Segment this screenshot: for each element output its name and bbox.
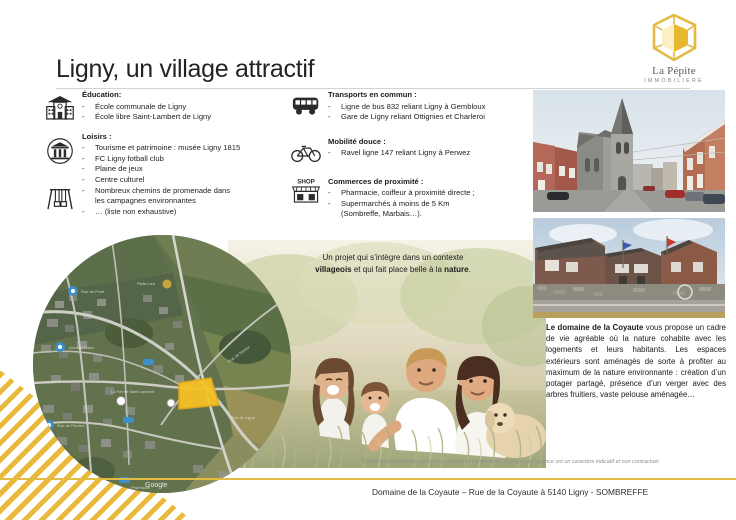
info-list: - École communale de Ligny - École libre… bbox=[82, 102, 288, 123]
list-item: - Gare de Ligny reliant Ottignies et Cha… bbox=[328, 112, 534, 123]
list-item-label: FC Ligny fotball club bbox=[95, 154, 164, 165]
bullet-dash: - bbox=[82, 102, 95, 113]
list-item: - Ravel ligne 147 reliant Ligny à Perwez bbox=[328, 148, 534, 159]
list-item-label: Supermarchés à moins de 5 Km bbox=[341, 199, 449, 210]
info-heading: Mobilité douce : bbox=[328, 137, 534, 146]
bullet-dash: - bbox=[82, 112, 95, 123]
satellite-map-with-highlighted-parcel[interactable]: Rue du Point Arnould Place La Ferme Sain… bbox=[33, 235, 291, 493]
info-list: - Tourisme et patrimoine : musée Ligny 1… bbox=[82, 143, 288, 185]
tagline-line2-mid: et qui fait place belle à la bbox=[352, 265, 445, 274]
info-block-mobilite: Mobilité douce : - Ravel ligne 147 relia… bbox=[284, 137, 534, 163]
svg-text:Rue du Point: Rue du Point bbox=[81, 289, 105, 294]
svg-text:La Ferme Saint-Lambert: La Ferme Saint-Lambert bbox=[111, 389, 155, 394]
tagline-line1: Un projet qui s’intègre dans un contexte bbox=[323, 253, 464, 262]
page-title: Ligny, un village attractif bbox=[56, 55, 314, 84]
list-item: - … (liste non exhaustive) bbox=[82, 207, 288, 218]
list-item: - Centre culturel bbox=[82, 175, 288, 186]
list-item-label: Plaine de jeux bbox=[95, 164, 143, 175]
list-item-label: … (liste non exhaustive) bbox=[95, 207, 176, 218]
list-item-continuation: les campagnes environnantes bbox=[82, 196, 288, 207]
list-item: - Plaine de jeux bbox=[82, 164, 288, 175]
list-item: - Tourisme et patrimoine : musée Ligny 1… bbox=[82, 143, 288, 154]
info-column-right: Transports en commun : - Ligne de bus 83… bbox=[284, 90, 534, 229]
nugget-logo-icon bbox=[648, 12, 700, 64]
description-body: vous propose un cadre de vie agréable où… bbox=[546, 323, 726, 399]
bullet-dash: - bbox=[82, 186, 95, 197]
bullet-dash: - bbox=[328, 102, 341, 113]
info-list: - Pharmacie, coiffeur à proximité direct… bbox=[328, 188, 534, 220]
village-church-street-photo bbox=[533, 90, 725, 212]
bicycle-icon bbox=[284, 137, 328, 163]
info-heading: Transports en commun : bbox=[328, 90, 534, 99]
bullet-dash: - bbox=[328, 148, 341, 159]
info-list: - Ligne de bus 832 reliant Ligny à Gembl… bbox=[328, 102, 534, 123]
list-item-label: École libre Saint-Lambert de Ligny bbox=[95, 112, 211, 123]
footer-address: Domaine de la Coyaute – Rue de la Coyaut… bbox=[300, 487, 720, 497]
shop-icon: SHOP bbox=[284, 177, 328, 204]
school-building-icon bbox=[38, 90, 82, 120]
swing-set-icon bbox=[38, 186, 82, 210]
svg-text:Plate-Lieu: Plate-Lieu bbox=[137, 281, 155, 286]
list-item-label: Gare de Ligny reliant Ottignies et Charl… bbox=[341, 112, 485, 123]
info-column-left: Éducation: - École communale de Ligny - … bbox=[38, 90, 288, 226]
footer-divider bbox=[0, 478, 736, 480]
svg-text:SHOP: SHOP bbox=[297, 178, 315, 185]
info-list: - Ravel ligne 147 reliant Ligny à Perwez bbox=[328, 148, 534, 159]
brand-logo[interactable]: La Pépite IMMOBILIERE bbox=[626, 12, 722, 84]
info-block-commerces: SHOP Commerces de proximité : - bbox=[284, 177, 534, 220]
list-item-label: Centre culturel bbox=[95, 175, 144, 186]
legal-disclaimer: Toutes les informations, mesures, surfac… bbox=[296, 459, 726, 465]
list-item-label: Ligne de bus 832 reliant Ligny à Gemblou… bbox=[341, 102, 485, 113]
list-item-label: Tourisme et patrimoine : musée Ligny 181… bbox=[95, 143, 240, 154]
brand-tagline: IMMOBILIERE bbox=[626, 78, 722, 84]
museum-icon bbox=[38, 132, 82, 165]
tagline-line2-end: . bbox=[469, 265, 471, 274]
list-item-label: Nombreux chemins de promenade dans bbox=[95, 186, 230, 197]
bus-icon bbox=[284, 90, 328, 116]
brand-name: La Pépite bbox=[626, 65, 722, 77]
info-heading: Commerces de proximité : bbox=[328, 177, 534, 186]
list-item: - Pharmacie, coiffeur à proximité direct… bbox=[328, 188, 534, 199]
info-block-transports: Transports en commun : - Ligne de bus 83… bbox=[284, 90, 534, 123]
project-description: Le domaine de la Coyaute vous propose un… bbox=[546, 322, 726, 400]
info-block-loisirs: Loisirs : - Tourisme et patrimoine : mus… bbox=[38, 132, 288, 186]
bullet-dash: - bbox=[82, 175, 95, 186]
svg-text:Rue de Ligny: Rue de Ligny bbox=[231, 415, 255, 420]
info-heading: Éducation: bbox=[82, 90, 288, 99]
list-item: - Nombreux chemins de promenade dans bbox=[82, 186, 288, 197]
info-block-promenades: - Nombreux chemins de promenade dans les… bbox=[38, 186, 288, 218]
list-item: - École libre Saint-Lambert de Ligny bbox=[82, 112, 288, 123]
stone-farmhouse-museum-photo bbox=[533, 218, 725, 318]
bullet-dash: - bbox=[328, 112, 341, 123]
list-item: - FC Ligny fotball club bbox=[82, 154, 288, 165]
list-item: - Ligne de bus 832 reliant Ligny à Gembl… bbox=[328, 102, 534, 113]
svg-text:Google: Google bbox=[145, 482, 168, 489]
list-item: - École communale de Ligny bbox=[82, 102, 288, 113]
bullet-dash: - bbox=[328, 188, 341, 199]
list-item-label: École communale de Ligny bbox=[95, 102, 186, 113]
info-list: - Nombreux chemins de promenade dans les… bbox=[82, 186, 288, 218]
info-block-education: Éducation: - École communale de Ligny - … bbox=[38, 90, 288, 123]
project-tagline: Un projet qui s’intègre dans un contexte… bbox=[268, 252, 518, 276]
list-item-label: Ravel ligne 147 reliant Ligny à Perwez bbox=[341, 148, 470, 159]
bullet-dash: - bbox=[328, 199, 341, 210]
tagline-emph-nature: nature bbox=[444, 265, 468, 274]
info-heading: Loisirs : bbox=[82, 132, 288, 141]
svg-text:Rue de Fleurus: Rue de Fleurus bbox=[57, 423, 84, 428]
bullet-dash: - bbox=[82, 207, 95, 218]
brochure-page: La Pépite IMMOBILIERE Ligny, un village … bbox=[0, 0, 736, 520]
bullet-dash: - bbox=[82, 143, 95, 154]
svg-text:Arnould Place: Arnould Place bbox=[69, 345, 95, 350]
list-item: - Supermarchés à moins de 5 Km bbox=[328, 199, 534, 210]
list-item-continuation: (Sombreffe, Marbais…). bbox=[328, 209, 534, 220]
title-divider bbox=[56, 88, 690, 89]
tagline-emph-villageois: villageois bbox=[315, 265, 351, 274]
bullet-dash: - bbox=[82, 164, 95, 175]
bullet-dash: - bbox=[82, 154, 95, 165]
list-item-label: Pharmacie, coiffeur à proximité directe … bbox=[341, 188, 475, 199]
description-lead: Le domaine de la Coyaute bbox=[546, 323, 643, 332]
